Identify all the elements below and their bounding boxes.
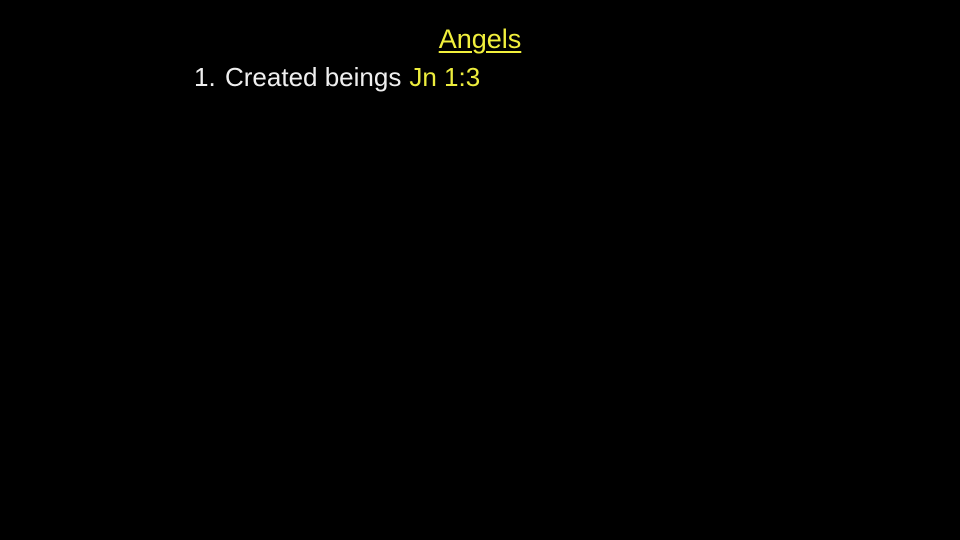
list-item-number: 1. xyxy=(194,61,225,93)
list-item-text: Created beings xyxy=(225,61,401,93)
slide-title-text: Angels xyxy=(439,24,522,54)
presentation-slide: Angels 1. Created beings Jn 1:3 xyxy=(0,0,960,540)
scripture-reference: Jn 1:3 xyxy=(409,61,480,93)
slide-title: Angels xyxy=(0,24,960,54)
list-item: 1. Created beings Jn 1:3 xyxy=(194,61,894,93)
slide-body-list: 1. Created beings Jn 1:3 xyxy=(194,61,894,93)
